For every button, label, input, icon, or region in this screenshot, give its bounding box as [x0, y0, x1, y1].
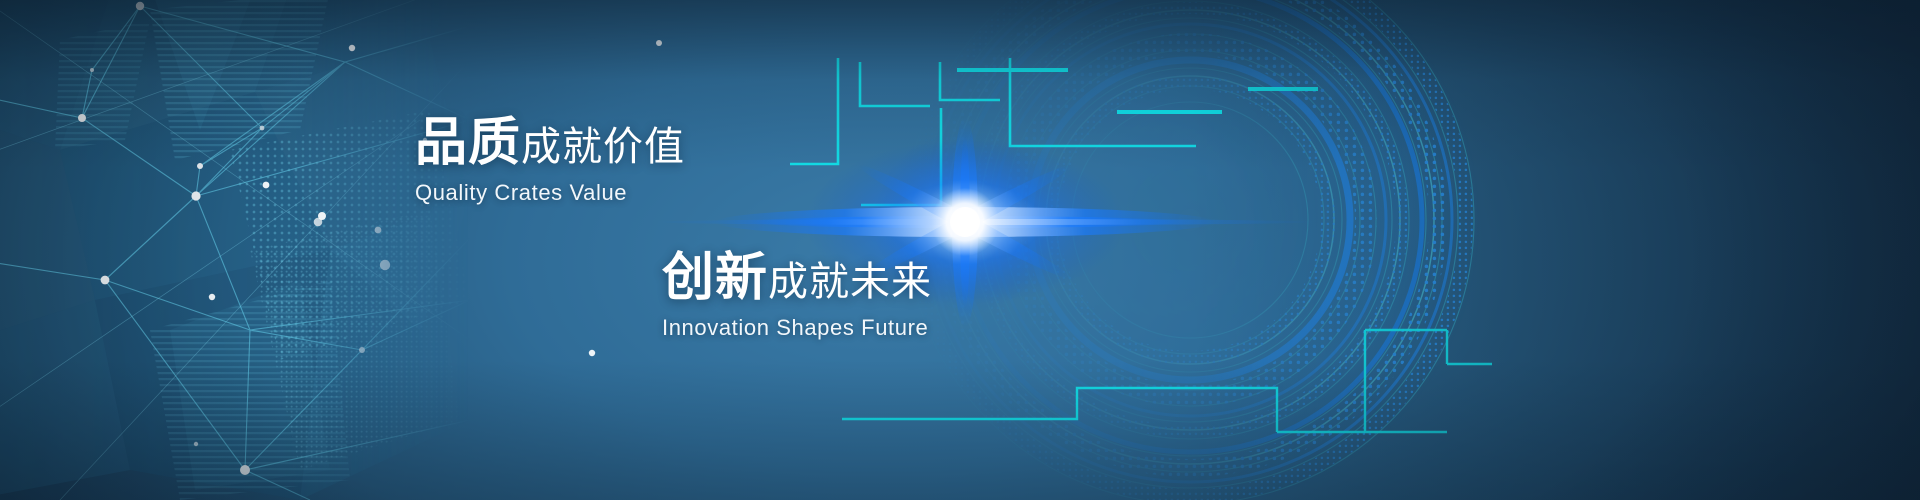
slogan-innovation-cn-lead: 创新 — [662, 249, 768, 307]
tech-ring-layer — [0, 0, 1920, 500]
slogan-innovation: 创新成就未来 Innovation Shapes Future — [662, 252, 932, 341]
hud-bracket-lines — [790, 58, 1318, 205]
slogan-innovation-en: Innovation Shapes Future — [662, 315, 932, 341]
top-shade-overlay — [0, 0, 1920, 500]
slogan-quality-cn: 品质成就价值 — [415, 117, 685, 169]
slogan-quality-cn-rest: 成就价值 — [521, 125, 685, 169]
polygon-mesh-layer — [0, 0, 1920, 500]
slogan-innovation-cn-rest: 成就未来 — [768, 260, 932, 304]
hud-step-shapes — [842, 300, 1492, 500]
right-shade-overlay — [0, 0, 1920, 500]
slogan-innovation-cn: 创新成就未来 — [662, 252, 932, 304]
hero-banner: 品质成就价值 Quality Crates Value 创新成就未来 Innov… — [0, 0, 1920, 500]
star-flare-layer — [0, 0, 1920, 500]
slogan-quality: 品质成就价值 Quality Crates Value — [415, 117, 685, 206]
slogan-quality-en: Quality Crates Value — [415, 180, 685, 206]
slogan-quality-cn-lead: 品质 — [415, 114, 521, 172]
vignette-overlay — [0, 0, 1920, 500]
